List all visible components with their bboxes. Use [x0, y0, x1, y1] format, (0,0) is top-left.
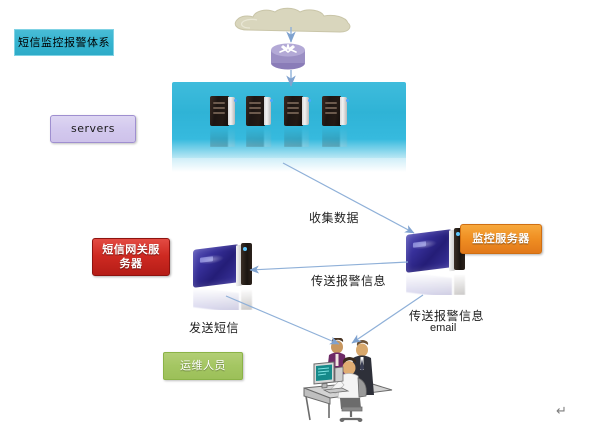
- router-icon: [266, 40, 310, 76]
- servers-label-box: servers: [50, 115, 136, 143]
- sms-gateway-server-icon: [193, 243, 257, 289]
- arrow-monitor-to-gateway: [250, 262, 408, 270]
- monitoring-server-label-box: 监控服务器: [460, 224, 542, 254]
- server-tower-reflection: [322, 127, 348, 147]
- diagram-canvas: 短信监控报警体系 servers: [0, 0, 608, 428]
- server-tower-icon: [284, 96, 310, 126]
- paragraph-mark: ↵: [556, 403, 567, 419]
- monitoring-server-reflection: [406, 273, 470, 295]
- server-farm-panel-reflection: [172, 158, 406, 172]
- server-tower-icon: [246, 96, 272, 126]
- title-label-box: 短信监控报警体系: [14, 29, 114, 56]
- server-tower-reflection: [210, 127, 236, 147]
- flow-label-collect-data: 收集数据: [309, 209, 359, 226]
- operations-staff-illustration: [296, 338, 400, 426]
- ops-staff-label-box: 运维人员: [163, 352, 243, 380]
- server-tower-icon: [210, 96, 236, 126]
- server-tower-icon: [322, 96, 348, 126]
- flow-label-alarm-to-staff-email: email: [430, 322, 456, 334]
- server-tower-reflection: [284, 127, 310, 147]
- flow-label-send-sms: 发送短信: [189, 319, 239, 336]
- sms-gateway-label-box: 短信网关服 务器: [92, 238, 170, 276]
- sms-gateway-server-reflection: [193, 288, 257, 310]
- server-tower-reflection: [246, 127, 272, 147]
- flow-label-alarm-to-gateway: 传送报警信息: [311, 272, 386, 289]
